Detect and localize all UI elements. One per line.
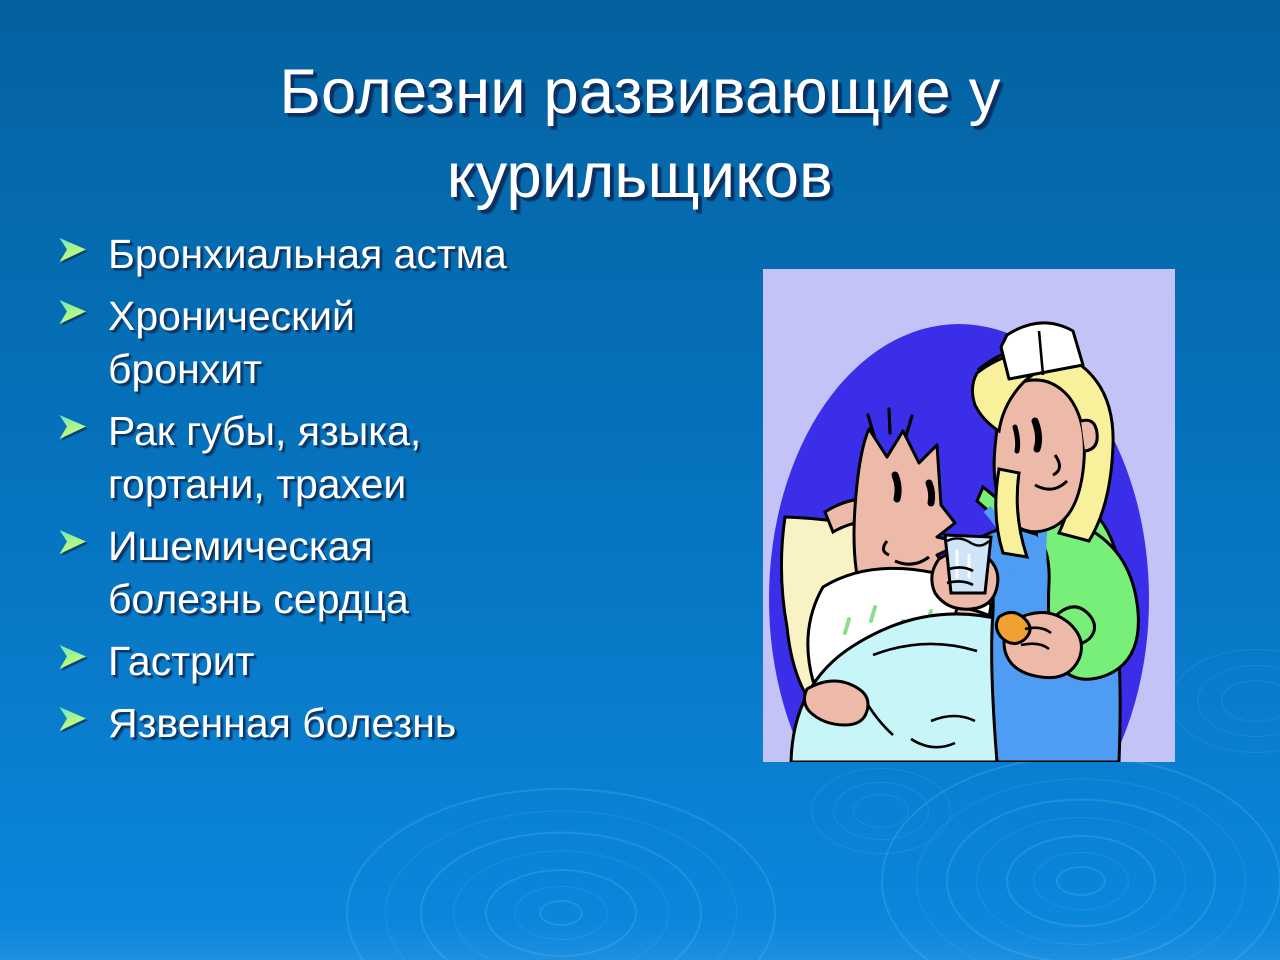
slide-title-line-1: Болезни развивающие у xyxy=(0,50,1280,134)
list-item: Хронический бронхит xyxy=(58,290,698,396)
list-item-label: Ишемическая болезнь сердца xyxy=(108,520,698,626)
list-item-label: Гастрит xyxy=(108,635,698,688)
list-item: Бронхиальная астма xyxy=(58,228,698,281)
ripple-cluster-right-edge xyxy=(1255,700,1256,701)
list-item-label: Язвенная болезнь xyxy=(108,697,698,750)
arrowhead-bullet-icon xyxy=(58,520,108,555)
disease-bullet-list: Бронхиальная астма Хронический бронхит Р… xyxy=(58,228,698,759)
presentation-slide: Болезни развивающие у курильщиков Брон xyxy=(0,0,1280,960)
list-item: Язвенная болезнь xyxy=(58,697,698,750)
list-item-label: Хронический бронхит xyxy=(108,290,698,396)
list-item-label: Рак губы, языка, гортани, трахеи xyxy=(108,405,698,511)
ripple-cluster-small-left xyxy=(880,810,881,811)
slide-title-line-2: курильщиков xyxy=(0,134,1280,218)
list-item-label: Бронхиальная астма xyxy=(108,228,698,281)
arrowhead-bullet-icon xyxy=(58,290,108,325)
slide-title: Болезни развивающие у курильщиков xyxy=(0,50,1280,218)
list-item: Рак губы, языка, гортани, трахеи xyxy=(58,405,698,511)
ripple-cluster-bottom-center xyxy=(560,912,561,913)
ripple-cluster-bottom-right xyxy=(1080,880,1081,881)
arrowhead-bullet-icon xyxy=(58,697,108,732)
arrowhead-bullet-icon xyxy=(58,228,108,263)
illustration-nurse-and-patient xyxy=(763,269,1175,762)
list-item: Ишемическая болезнь сердца xyxy=(58,520,698,626)
nurse-patient-clipart-svg xyxy=(763,269,1175,762)
arrowhead-bullet-icon xyxy=(58,405,108,440)
arrowhead-bullet-icon xyxy=(58,635,108,670)
list-item: Гастрит xyxy=(58,635,698,688)
